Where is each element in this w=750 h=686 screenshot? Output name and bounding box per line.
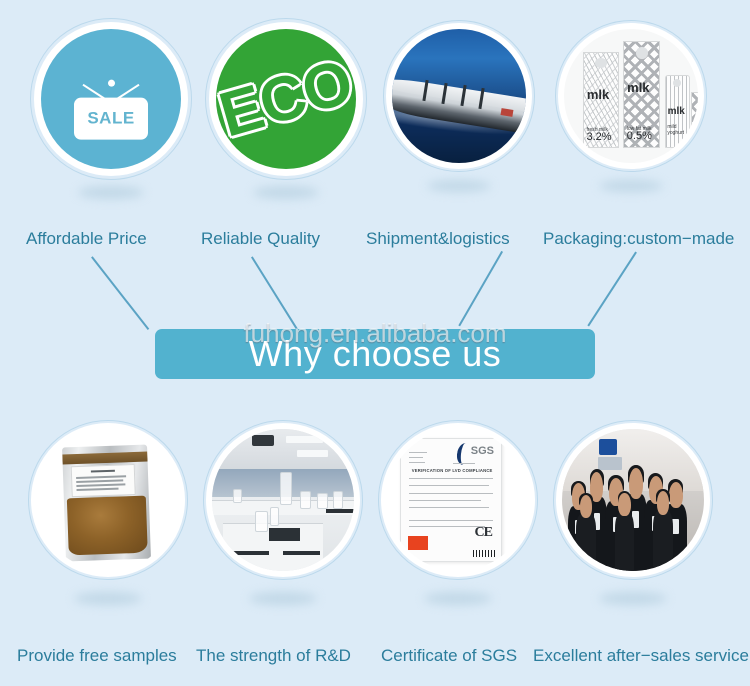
badge-shadow [249, 592, 317, 605]
milk-carton-packaging-photo: mlk fresh milk 3.2% mlk low fat milk 0.5… [564, 29, 698, 163]
team-member [576, 514, 596, 571]
sale-hook-icon [108, 80, 115, 87]
cert-line [453, 463, 475, 464]
person-head [669, 482, 683, 509]
milk-bottle: mlk mild yoghurt [665, 75, 690, 149]
label-provide-free-samples: Provide free samples [17, 646, 177, 666]
eco-text: ECO [216, 50, 356, 147]
carton-cap [636, 47, 648, 59]
pouch-label-line [76, 480, 123, 483]
ce-mark-icon: CE [475, 525, 492, 541]
lab-sink [269, 528, 300, 541]
label-after-sales-service: Excellent after−sales service [533, 646, 749, 666]
person-head [618, 493, 630, 516]
eco-label: ECO [216, 50, 356, 147]
badge-shadow [74, 592, 142, 605]
eco-badge-icon: ECO [216, 29, 356, 169]
badge-packaging-custom-made[interactable]: mlk fresh milk 3.2% mlk low fat milk 0.5… [555, 20, 707, 172]
carton-percent: 0.5% [627, 130, 652, 142]
booth-logo [599, 439, 617, 455]
badge-shadow [78, 186, 144, 199]
cert-line [409, 520, 493, 521]
badge-shadow [599, 180, 663, 192]
laboratory-photo [212, 429, 354, 571]
pouch-seal [62, 451, 147, 464]
pouch-label-line [76, 484, 125, 487]
badge-shadow [427, 180, 491, 192]
carton-brand: mlk [627, 80, 649, 95]
pouch-label-line [76, 488, 119, 491]
label-affordable-price: Affordable Price [26, 229, 147, 249]
lab-shelf-unit [280, 472, 292, 505]
lab-counter-edge [326, 509, 354, 513]
certificate-title: VERIFICATION OF LVD COMPLIANCE [412, 468, 493, 473]
badge-shadow [424, 592, 492, 605]
lab-light-panel [286, 436, 323, 443]
lab-glassware [300, 491, 311, 509]
cert-line [409, 493, 493, 494]
lab-drawer-handle [283, 551, 320, 555]
badge-provide-free-samples[interactable] [28, 420, 188, 580]
pouch-label-title [91, 470, 115, 473]
cert-line [409, 452, 427, 453]
sale-sign-icon: SALE [41, 29, 181, 169]
badge-shadow [599, 592, 667, 605]
badge-reliable-quality[interactable]: ECO [205, 18, 367, 180]
label-reliable-quality: Reliable Quality [201, 229, 320, 249]
sale-sign-graphic: SALE [74, 80, 148, 122]
carton-percent: 3.2% [586, 131, 611, 143]
lab-ceiling [212, 429, 354, 472]
person-head [580, 495, 592, 518]
cert-line [409, 457, 423, 458]
pouch-label [70, 464, 136, 497]
carton-label: mild yoghurt [667, 124, 689, 138]
sale-plate: SALE [74, 98, 148, 140]
cert-line [409, 507, 489, 508]
pouch-label-line [76, 476, 126, 479]
badge-certificate-of-sgs[interactable]: SGS VERIFICATION OF LVD COMPLIANCE CE [378, 420, 538, 580]
cert-line [409, 526, 485, 527]
lab-drawer-handle [232, 551, 269, 555]
cert-line [409, 478, 493, 479]
label-packaging-custom-made: Packaging:custom−made [543, 229, 734, 249]
label-strength-of-rd: The strength of R&D [196, 646, 351, 666]
certificate-barcode [473, 550, 495, 556]
lab-glassware [270, 507, 279, 526]
connector-line [91, 256, 149, 329]
lab-glassware [233, 489, 242, 504]
carton-texture [692, 93, 698, 147]
powder-sample-pouch-photo [37, 429, 179, 571]
carton-brand: mlk [668, 106, 685, 117]
lab-projector [252, 435, 275, 446]
cert-line [409, 485, 489, 486]
connector-line [251, 256, 298, 330]
sample-pouch [62, 445, 151, 561]
label-shipment-logistics: Shipment&logistics [366, 229, 510, 249]
milk-carton [691, 92, 698, 148]
cargo-ship-photo [392, 29, 526, 163]
team-photo [562, 429, 704, 571]
banner-title: Why choose us [249, 333, 502, 375]
lab-glassware [255, 511, 268, 531]
badge-shadow [253, 186, 319, 199]
label-certificate-of-sgs: Certificate of SGS [381, 646, 517, 666]
lab-glassware [317, 493, 328, 509]
sgs-certificate-photo: SGS VERIFICATION OF LVD COMPLIANCE CE [387, 429, 529, 571]
badge-shipment-logistics[interactable] [383, 20, 535, 172]
milk-carton: mlk low fat milk 0.5% [623, 41, 661, 148]
lab-glassware [333, 491, 344, 509]
person-head [629, 468, 643, 499]
cert-line [409, 500, 481, 501]
team-member [615, 513, 635, 571]
sgs-logo-text: SGS [471, 445, 494, 457]
carton-brand: mlk [587, 87, 609, 102]
milk-carton: mlk fresh milk 3.2% [583, 52, 619, 148]
why-choose-us-infographic: SALE ECO [0, 0, 750, 686]
carton-cap [595, 58, 607, 68]
connector-line [458, 251, 502, 326]
person-badge [672, 519, 679, 534]
badge-affordable-price[interactable]: SALE [30, 18, 192, 180]
team-member [653, 511, 673, 571]
powder-contents [67, 496, 147, 556]
badge-after-sales-service[interactable] [553, 420, 713, 580]
sale-label: SALE [87, 109, 134, 129]
person-head [657, 491, 669, 515]
booth-sign [598, 457, 622, 470]
cert-line [409, 462, 425, 463]
certificate-page: SGS VERIFICATION OF LVD COMPLIANCE CE [400, 438, 502, 563]
connector-line [587, 252, 636, 327]
why-choose-us-banner[interactable]: Why choose us [155, 329, 595, 379]
lab-light-panel [297, 450, 328, 457]
badge-strength-of-rd[interactable] [203, 420, 363, 580]
certificate-stamp [408, 536, 428, 551]
